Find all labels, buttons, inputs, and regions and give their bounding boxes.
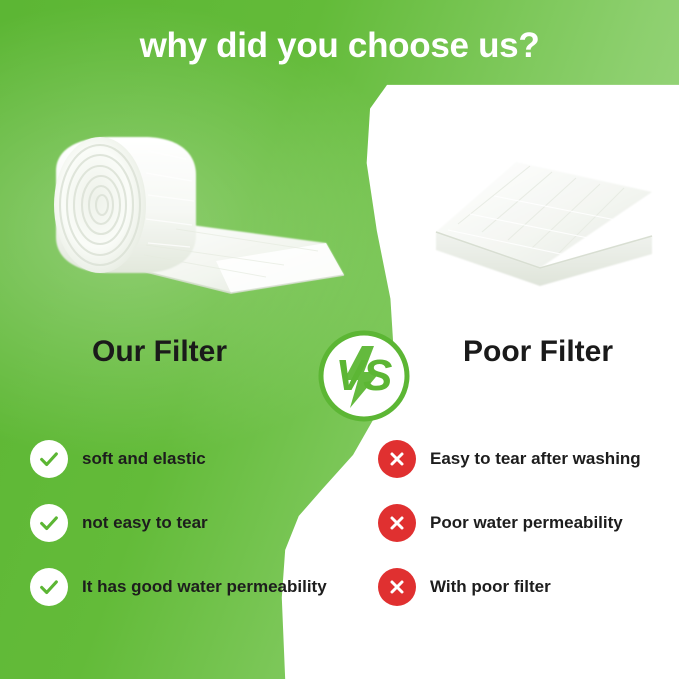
comparison-poster: why did you choose us? [0, 0, 679, 679]
list-item-label: Easy to tear after washing [430, 440, 641, 470]
cross-icon [378, 504, 416, 542]
check-icon [30, 568, 68, 606]
list-item: Poor water permeability [378, 504, 668, 542]
versus-badge: VS [318, 330, 410, 422]
list-item: Easy to tear after washing [378, 440, 668, 478]
check-icon [30, 440, 68, 478]
list-item-label: Poor water permeability [430, 504, 623, 534]
poor-filter-label: Poor Filter [463, 335, 613, 369]
cross-icon [378, 568, 416, 606]
poor-filter-product-image [420, 140, 660, 300]
list-item: It has good water permeability [30, 568, 330, 606]
list-item-label: soft and elastic [82, 440, 206, 470]
page-title: why did you choose us? [0, 22, 679, 70]
our-filter-feature-list: soft and elastic not easy to tear It has… [30, 440, 330, 632]
check-icon [30, 504, 68, 542]
versus-label: VS [318, 330, 410, 422]
our-filter-product-image [26, 125, 346, 315]
poor-filter-feature-list: Easy to tear after washing Poor water pe… [378, 440, 668, 632]
list-item-label: not easy to tear [82, 504, 208, 534]
list-item-label: With poor filter [430, 568, 551, 598]
list-item: With poor filter [378, 568, 668, 606]
list-item: not easy to tear [30, 504, 330, 542]
our-filter-label: Our Filter [92, 335, 227, 369]
list-item: soft and elastic [30, 440, 330, 478]
cross-icon [378, 440, 416, 478]
list-item-label: It has good water permeability [82, 568, 327, 598]
